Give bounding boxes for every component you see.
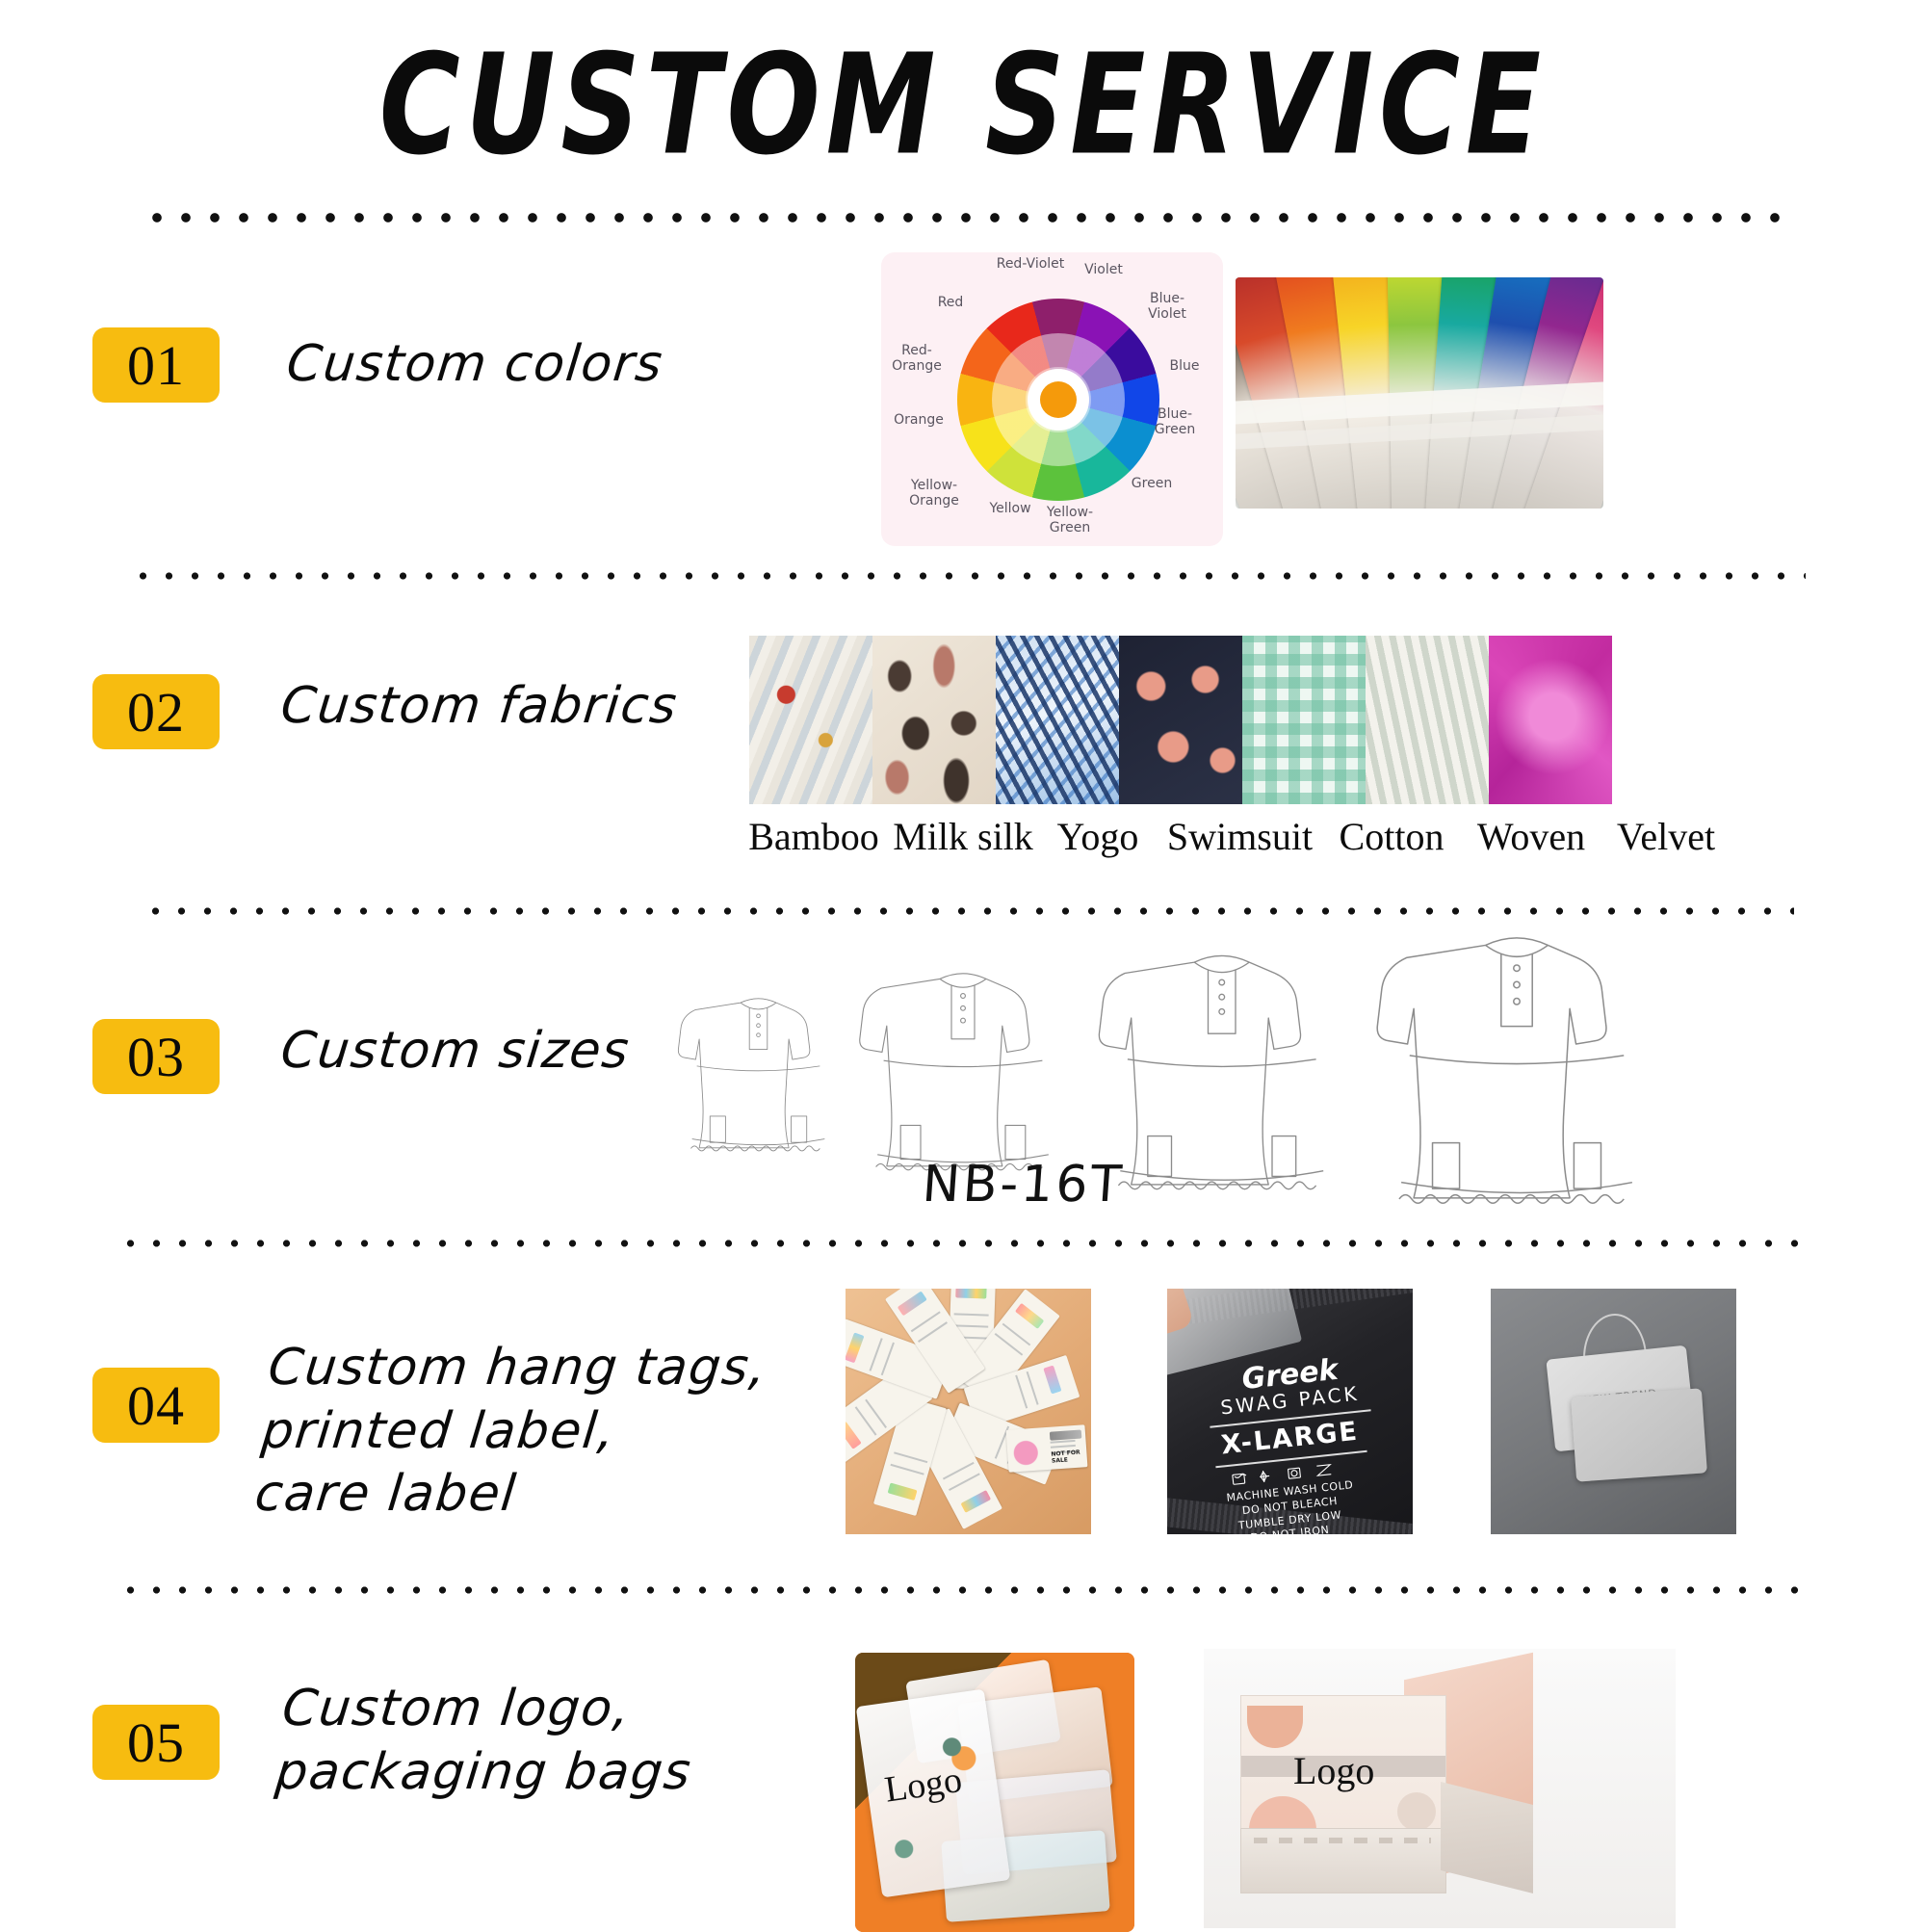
row-badge-01: 01 [92, 327, 220, 403]
row-number-05: 05 [127, 1710, 185, 1775]
dress-illustrations [674, 925, 1810, 1223]
color-wheel-label-yellow: Yellow [981, 501, 1039, 516]
color-wheel-label-yellow-orange: Yellow-Orange [898, 478, 970, 509]
color-fan-deck-photo [1236, 277, 1603, 509]
fabric-name-yogo: Yogo [1040, 814, 1156, 859]
color-wheel-label-orange: Orange [887, 412, 950, 428]
row-custom-colors [0, 0, 1926, 1]
row-badge-04: 04 [92, 1368, 220, 1443]
separator-1 [130, 570, 1806, 582]
fabric-name-velvet: Velvet [1603, 814, 1729, 859]
fabric-swatch-milk-silk [872, 636, 996, 804]
row-number-02: 02 [127, 680, 185, 744]
color-wheel-label-red-violet: Red-Violet [995, 256, 1066, 272]
box-logo-text: Logo [1293, 1748, 1374, 1793]
bag-logo-text: Logo [882, 1759, 965, 1812]
fabric-swatch-cotton [1242, 636, 1366, 804]
row-number-04: 04 [127, 1373, 185, 1438]
separator-2 [143, 905, 1794, 917]
box-slots [1254, 1838, 1431, 1843]
fabric-name-swimsuit: Swimsuit [1156, 814, 1324, 859]
color-wheel-label-blue-violet: Blue-Violet [1136, 291, 1198, 322]
hang-tag-card-back [1571, 1388, 1707, 1481]
page-title-wrap: CUSTOM SERVICE [0, 33, 1926, 152]
printed-label-photo: Greek SWAG PACK X-LARGE MACHINE WASH COL… [1167, 1289, 1413, 1534]
fabric-swatch-yogo [996, 636, 1119, 804]
hang-tag-strip-care: NOT FOR SALE [1006, 1424, 1088, 1473]
page-title: CUSTOM SERVICE [379, 33, 1547, 178]
fabric-name-milk-silk: Milk silk [886, 814, 1040, 859]
row-badge-05: 05 [92, 1705, 220, 1780]
row-label-02: Custom fabrics [277, 674, 681, 740]
fabric-name-row: Bamboo Milk silk Yogo Swimsuit Cotton Wo… [742, 814, 1729, 859]
row-badge-02: 02 [92, 674, 220, 749]
fabric-swatch-strip [749, 636, 1612, 804]
fabric-swatch-velvet [1489, 636, 1612, 804]
separator-4 [117, 1584, 1812, 1596]
fabric-swatch-woven [1366, 636, 1489, 804]
packaging-box-photo: Logo [1204, 1649, 1676, 1928]
dress-svg [674, 925, 1810, 1223]
row-label-04: Custom hang tags, printed label, care la… [252, 1337, 770, 1527]
color-wheel-card: Red-Violet Violet Blue-Violet Blue Blue-… [881, 252, 1223, 546]
fabric-name-bamboo: Bamboo [742, 814, 886, 859]
row-number-03: 03 [127, 1025, 185, 1089]
color-wheel-center-dot [1040, 381, 1077, 418]
box-front-face: Logo [1240, 1695, 1446, 1841]
hang-tags-photo: NOT FOR SALE [846, 1289, 1091, 1534]
separator-top [143, 210, 1791, 225]
color-wheel-label-red: Red [924, 295, 977, 310]
color-wheel-label-green: Green [1122, 476, 1182, 491]
fabric-swatch-bamboo [749, 636, 872, 804]
color-wheel-label-red-orange: Red-Orange [883, 343, 950, 374]
row-label-01: Custom colors [283, 332, 665, 398]
size-range-text: NB-16T [921, 1156, 1126, 1214]
row-label-05: Custom logo, packaging bags [273, 1678, 701, 1804]
fabric-name-cotton: Cotton [1324, 814, 1459, 859]
infographic-page: CUSTOM SERVICE 01 Custom colors Red-Viol… [0, 0, 1926, 1926]
color-wheel-label-violet: Violet [1070, 262, 1137, 277]
separator-3 [117, 1238, 1812, 1249]
color-wheel-label-blue: Blue [1156, 358, 1213, 374]
color-wheel-label-blue-green: Blue-Green [1143, 406, 1207, 437]
fabric-name-woven: Woven [1459, 814, 1603, 859]
row-badge-03: 03 [92, 1019, 220, 1094]
packaging-bag-front: Logo [856, 1689, 1011, 1898]
row-number-01: 01 [127, 333, 185, 398]
row-label-03: Custom sizes [277, 1019, 633, 1084]
fabric-swatch-swimsuit [1119, 636, 1242, 804]
hang-tag-photo: NEW TREND [1491, 1289, 1736, 1534]
color-wheel-label-yellow-green: Yellow-Green [1035, 505, 1105, 535]
packaging-bags-photo: Logo [855, 1653, 1134, 1932]
color-wheel-hub [1028, 369, 1089, 431]
